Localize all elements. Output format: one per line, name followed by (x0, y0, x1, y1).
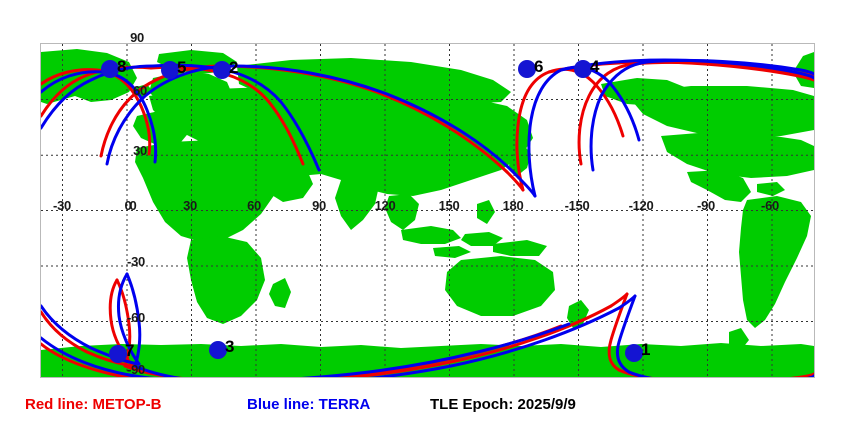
landmass-layer (41, 49, 814, 377)
lon-tick-label-30: 30 (183, 198, 197, 213)
lon-tick-label-120: 120 (375, 198, 396, 213)
pass-marker-label-5: 5 (177, 59, 186, 76)
lon-tick-label-neg30: -30 (53, 198, 71, 213)
lon-tick-label-neg90: -90 (697, 198, 715, 213)
lon-tick-label-60: 60 (247, 198, 261, 213)
ground-track-figure: 90 60 30 0 -30 -60 -90 -30 0 30 60 90 12… (0, 0, 850, 425)
lon-tick-label-180: 180 (503, 198, 524, 213)
lon-tick-label-150: 150 (439, 198, 460, 213)
lat-tick-label-neg30: -30 (127, 254, 145, 269)
pass-marker-label-8: 8 (117, 58, 126, 75)
lat-tick-label-neg60: -60 (127, 310, 145, 325)
lon-tick-label-neg120: -120 (629, 198, 654, 213)
lon-tick-label-neg60: -60 (761, 198, 779, 213)
lat-tick-label-60: 60 (133, 83, 147, 98)
legend-red-line: Red line: METOP-B (25, 397, 161, 412)
lat-tick-label-30: 30 (133, 143, 147, 158)
pass-marker-label-3: 3 (225, 338, 234, 355)
lat-tick-label-neg90: -90 (127, 362, 145, 377)
lat-tick-label-90: 90 (130, 30, 144, 45)
pass-marker-label-2: 2 (229, 59, 238, 76)
pass-marker-label-6: 6 (534, 58, 543, 75)
pass-marker-label-1: 1 (641, 341, 650, 358)
legend-tle-epoch: TLE Epoch: 2025/9/9 (430, 397, 576, 412)
lon-tick-label-90: 90 (312, 198, 326, 213)
lon-tick-label-neg150: -150 (565, 198, 590, 213)
lon-tick-label-0: 0 (130, 198, 137, 213)
pass-marker-label-7: 7 (125, 342, 134, 359)
pass-marker-label-4: 4 (590, 58, 599, 75)
legend-blue-line: Blue line: TERRA (247, 397, 370, 412)
legend: Red line: METOP-B Blue line: TERRA TLE E… (0, 392, 850, 420)
